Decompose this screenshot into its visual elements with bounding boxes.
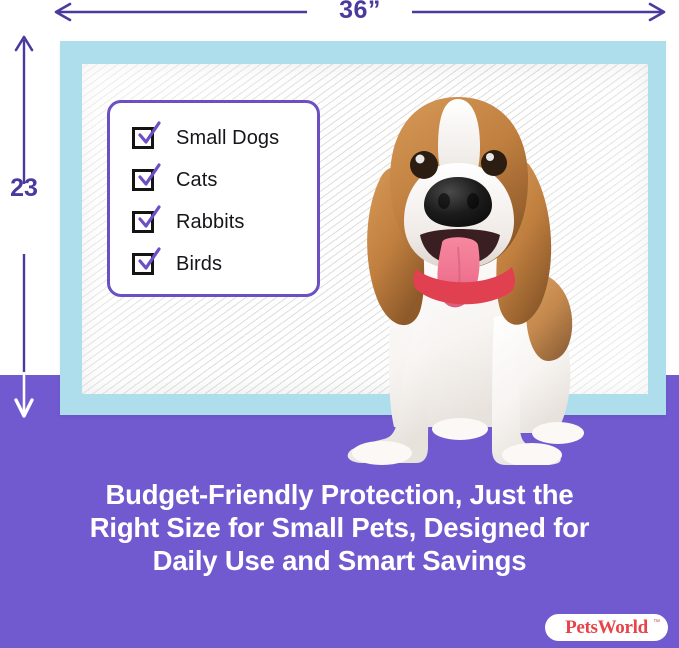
height-dimension-arrow: [6, 32, 42, 432]
checklist-item-label: Cats: [176, 169, 218, 192]
checkbox-cats[interactable]: [132, 169, 154, 191]
checklist-item[interactable]: Small Dogs: [132, 117, 317, 159]
checkbox-small-dogs[interactable]: [132, 127, 154, 149]
width-dimension-label: 36”: [310, 0, 410, 25]
checkmark-icon: [136, 205, 162, 231]
dog-eye-highlight-right: [486, 153, 494, 161]
beagle-dog-photo: [320, 55, 610, 465]
brand-name: PetsWorld: [565, 617, 648, 639]
checkmark-icon: [136, 163, 162, 189]
dog-hind-paw: [432, 418, 488, 440]
dog-nostril-right: [467, 193, 479, 209]
trademark-symbol: ™: [653, 619, 660, 626]
height-dimension-label: 23: [0, 174, 48, 203]
dog-paw-left: [352, 441, 412, 465]
checklist-item[interactable]: Rabbits: [132, 201, 317, 243]
dog-eye-highlight-left: [416, 155, 425, 164]
checklist-item-label: Rabbits: [176, 211, 245, 234]
brand-logo: PetsWorld ™: [545, 614, 668, 641]
marketing-headline: Budget-Friendly Protection, Just the Rig…: [30, 478, 649, 577]
dog-nostril-left: [438, 193, 450, 209]
product-marketing-image: 36” 23 Small Dogs Cats: [0, 0, 679, 648]
headline-line-2: Right Size for Small Pets, Designed for: [30, 511, 649, 544]
checklist-item[interactable]: Cats: [132, 159, 317, 201]
checklist-item-label: Small Dogs: [176, 127, 279, 150]
suitable-pets-checklist: Small Dogs Cats Rabbits: [107, 100, 320, 297]
checkmark-icon: [136, 247, 162, 273]
checkbox-rabbits[interactable]: [132, 211, 154, 233]
dog-eye-right: [481, 150, 507, 176]
checklist-item[interactable]: Birds: [132, 243, 317, 285]
checkbox-birds[interactable]: [132, 253, 154, 275]
dog-hind-paw-right: [532, 422, 584, 444]
headline-line-3: Daily Use and Smart Savings: [30, 544, 649, 577]
dog-eye-left: [410, 151, 438, 179]
checklist-item-label: Birds: [176, 253, 222, 276]
headline-line-1: Budget-Friendly Protection, Just the: [30, 478, 649, 511]
checkmark-icon: [136, 121, 162, 147]
